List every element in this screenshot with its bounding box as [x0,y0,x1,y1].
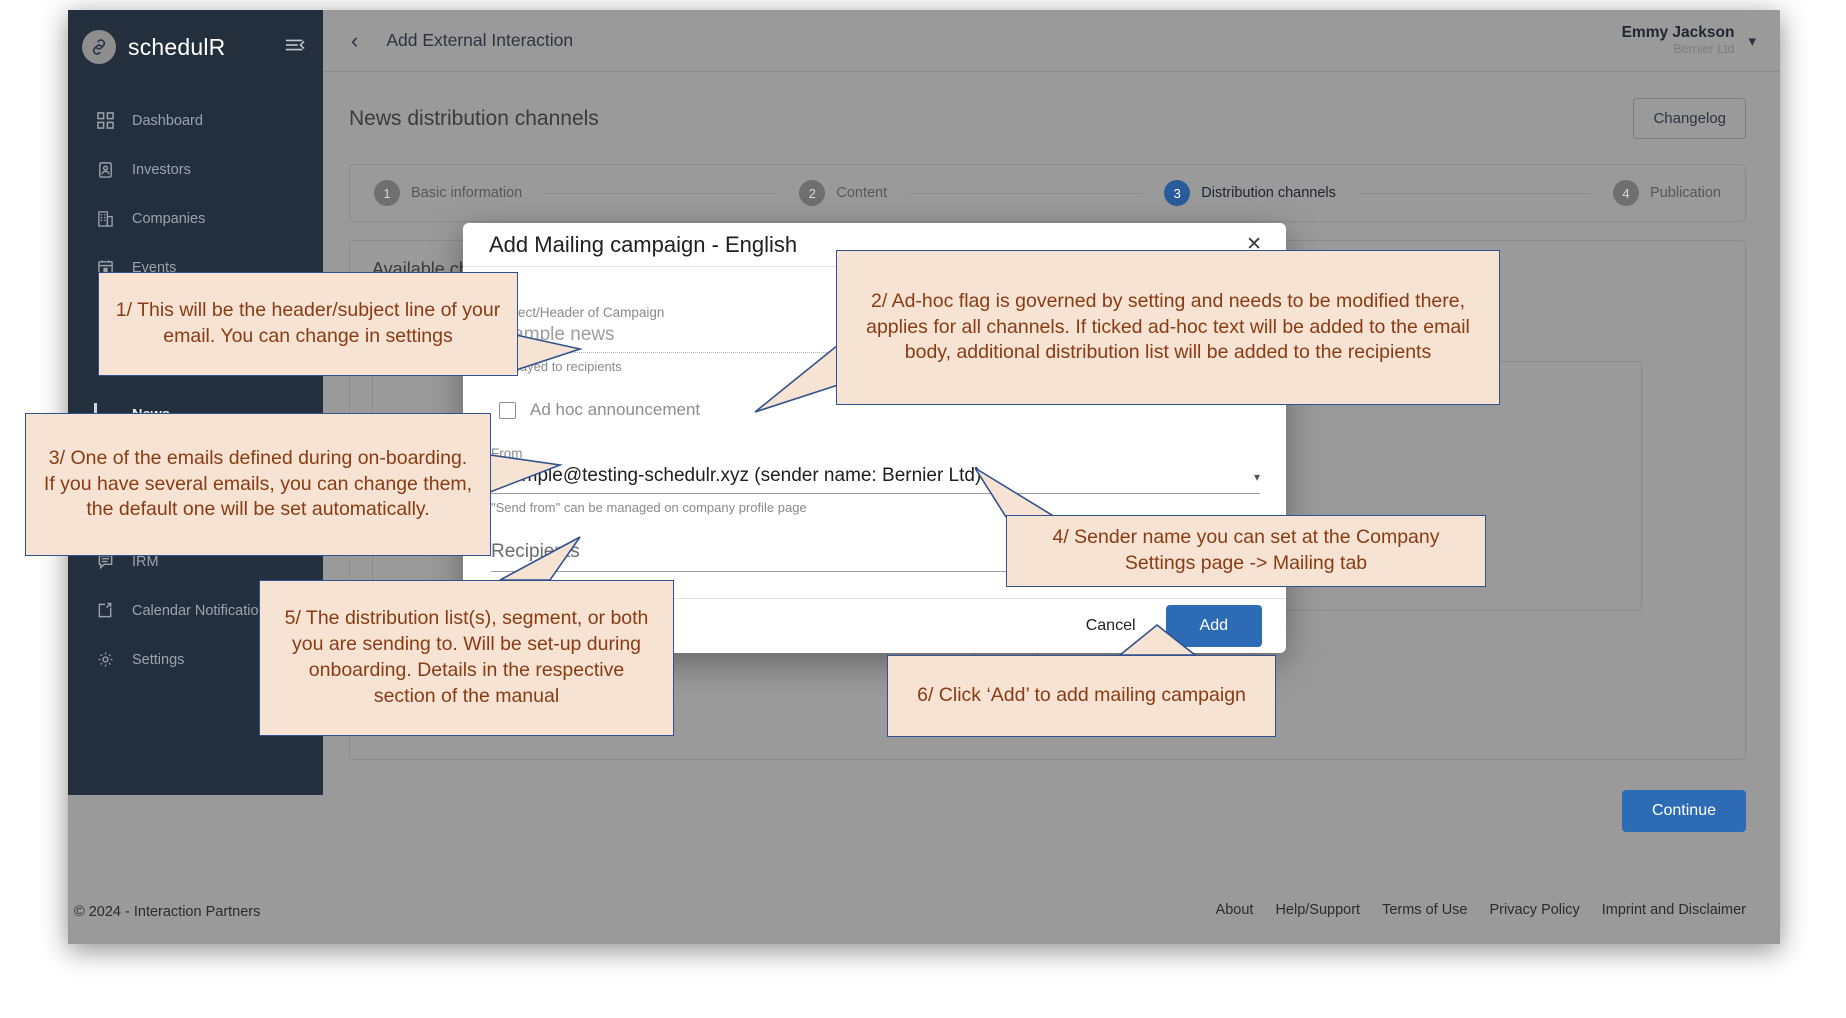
callout-6: 6/ Click ‘Add’ to add mailing campaign [887,655,1276,737]
callout-4: 4/ Sender name you can set at the Compan… [1006,515,1486,587]
callout-2: 2/ Ad-hoc flag is governed by setting an… [836,250,1500,405]
screenshot-root: schedulR [0,0,1846,1018]
callout-3: 3/ One of the emails defined during on-b… [25,413,491,556]
callout-5: 5/ The distribution list(s), segment, or… [259,580,674,736]
callout-1: 1/ This will be the header/subject line … [98,272,518,376]
